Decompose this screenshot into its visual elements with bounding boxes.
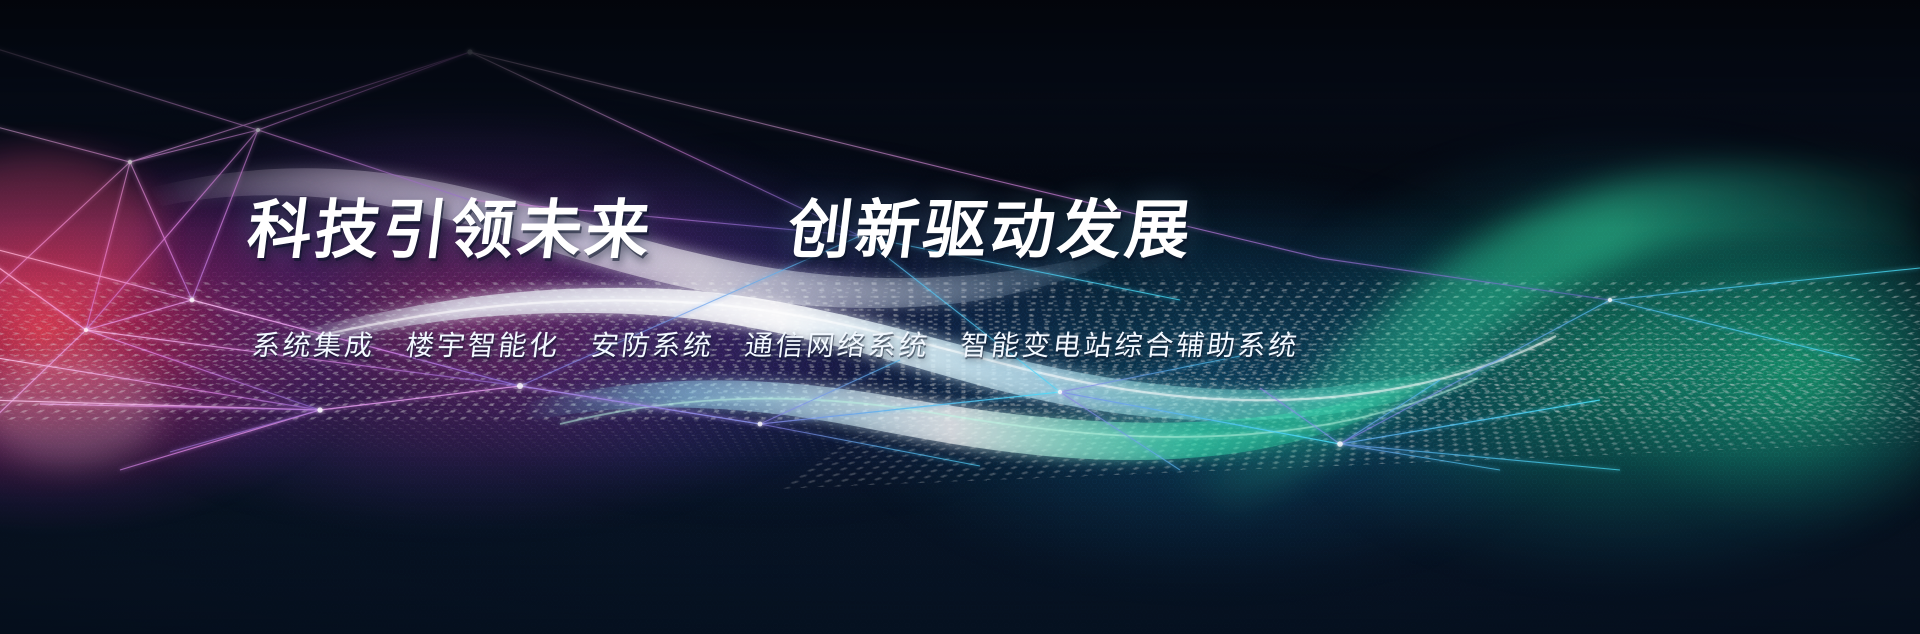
page-title: 科技引领未来 创新驱动发展 <box>244 196 1672 265</box>
subtitle-services-list: 系统集成 楼宇智能化 安防系统 通信网络系统 智能变电站综合辅助系统 <box>250 331 1670 362</box>
light-burst-left <box>0 150 160 464</box>
tech-hero-banner: 科技引领未来 创新驱动发展 系统集成 楼宇智能化 安防系统 通信网络系统 智能变… <box>0 0 1920 634</box>
hero-copy-block: 科技引领未来 创新驱动发展 系统集成 楼宇智能化 安防系统 通信网络系统 智能变… <box>248 196 1668 362</box>
